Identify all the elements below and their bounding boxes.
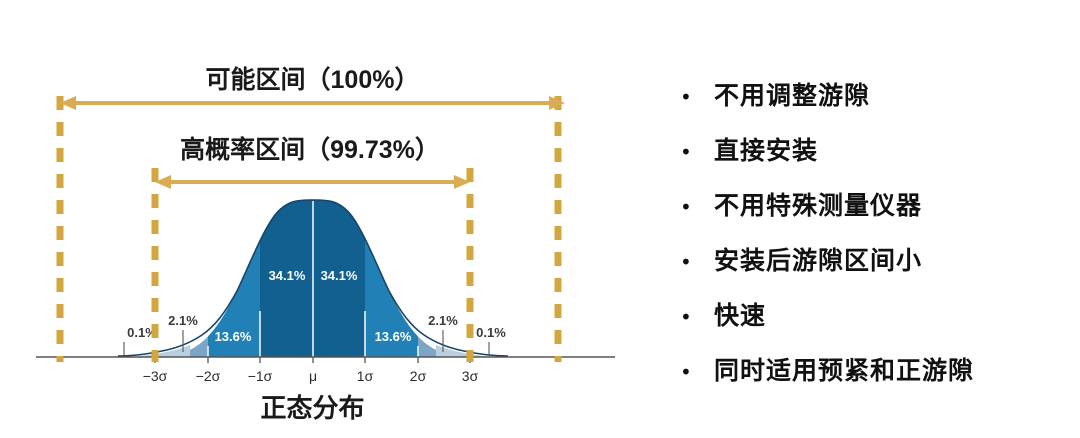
list-item: • 直接安装 [672, 131, 1080, 186]
bullet-dot-icon: • [672, 252, 714, 272]
range-arrow-total [60, 96, 565, 110]
list-item: • 快速 [672, 296, 1080, 351]
range-arrow-high-probability [155, 175, 470, 189]
bullet-dot-icon: • [672, 197, 714, 217]
axis-tick-minus2sigma: −2σ [196, 368, 221, 384]
chart-caption: 正态分布 [0, 388, 625, 425]
pct-label-34-left: 34.1% [269, 268, 306, 283]
axis-tick-1sigma: 1σ [357, 368, 374, 384]
list-item: • 同时适用预紧和正游隙 [672, 351, 1080, 406]
slide-root: −3σ −2σ −1σ μ 1σ 2σ 3σ 34.1% 34.1% 13.6%… [0, 0, 1080, 438]
axis-tick-2sigma: 2σ [410, 368, 427, 384]
bullet-text-2: 直接安装 [714, 131, 818, 167]
axis-tick-marks [155, 357, 470, 363]
range-label-total: 可能区间（100%） [0, 60, 625, 96]
distribution-bands [110, 190, 520, 360]
pct-label-34-right: 34.1% [321, 268, 358, 283]
normal-distribution-chart: −3σ −2σ −1σ μ 1σ 2σ 3σ 34.1% 34.1% 13.6%… [0, 0, 650, 438]
list-item: • 不用调整游隙 [672, 76, 1080, 131]
bullet-text-5: 快速 [714, 296, 766, 332]
bullet-text-1: 不用调整游隙 [714, 76, 870, 112]
axis-tick-minus1sigma: −1σ [248, 368, 273, 384]
bullet-text-6: 同时适用预紧和正游隙 [714, 351, 974, 387]
pct-label-2p1-right: 2.1% [428, 313, 458, 328]
axis-tick-mu: μ [309, 368, 317, 384]
benefits-bullet-list: • 不用调整游隙 • 直接安装 • 不用特殊测量仪器 • 安装后游隙区间小 • … [672, 76, 1080, 406]
list-item: • 安装后游隙区间小 [672, 241, 1080, 296]
axis-tick-3sigma: 3σ [462, 368, 479, 384]
bullet-dot-icon: • [672, 142, 714, 162]
list-item: • 不用特殊测量仪器 [672, 186, 1080, 241]
bullet-text-3: 不用特殊测量仪器 [714, 186, 922, 222]
range-label-high-probability: 高概率区间（99.73%） [0, 130, 620, 166]
pct-label-2p1-left: 2.1% [168, 313, 198, 328]
bullet-dot-icon: • [672, 362, 714, 382]
bullet-dot-icon: • [672, 307, 714, 327]
pct-label-0p1-right: 0.1% [476, 325, 506, 340]
pct-label-13-right: 13.6% [375, 329, 412, 344]
axis-tick-minus3sigma: −3σ [143, 368, 168, 384]
pct-label-13-left: 13.6% [215, 329, 252, 344]
bullet-text-4: 安装后游隙区间小 [714, 241, 922, 277]
bullet-dot-icon: • [672, 87, 714, 107]
